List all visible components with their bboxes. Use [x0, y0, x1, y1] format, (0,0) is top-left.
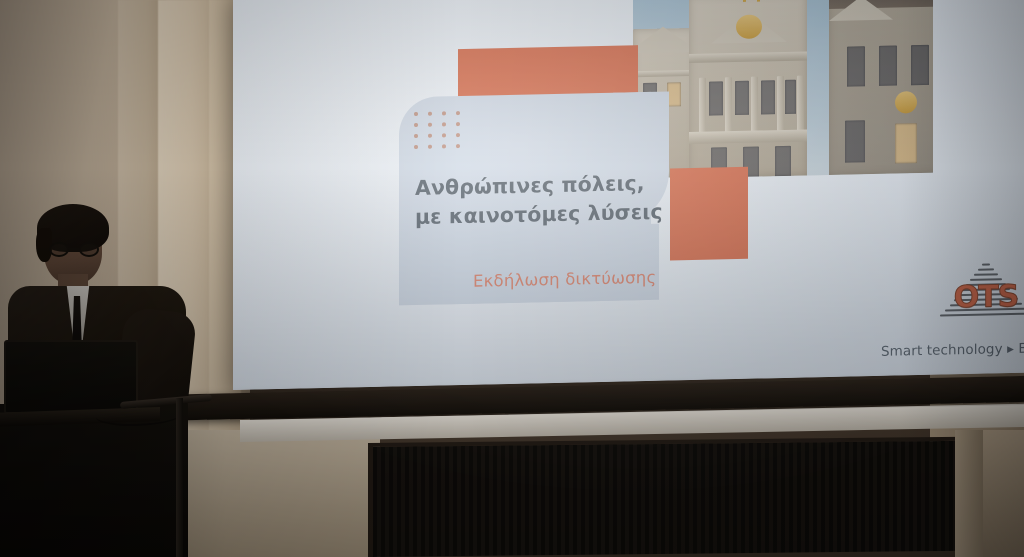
panel-frame-right [955, 430, 983, 557]
glasses-bridge [69, 248, 79, 250]
eyeglasses-icon [49, 242, 99, 257]
slide-subtitle: Εκδήλωση δικτύωσης [473, 267, 703, 291]
photo-window-lit [895, 123, 917, 163]
photo-window [761, 80, 775, 114]
photo-column [699, 78, 706, 134]
photo-window-lit [667, 82, 681, 106]
photo-window [709, 81, 723, 115]
accent-block-bottom [670, 167, 748, 261]
photo-column [725, 77, 732, 133]
slide-card-foot [399, 224, 659, 306]
slide-title-line-2: με καινοτόμες λύσεις [415, 198, 665, 233]
photo-statue-leg [757, 0, 760, 2]
logo-wordmark: OTS [938, 279, 1024, 316]
photo-column [751, 77, 758, 133]
photo-pediment-right [829, 0, 893, 21]
photo-window [775, 146, 791, 176]
slide-title: Ανθρώπινες πόλεις, με καινοτόμες λύσεις [415, 169, 665, 233]
photo-column [797, 76, 804, 132]
laptop-screen [4, 340, 138, 414]
dot-grid-decoration [414, 111, 466, 152]
presentation-photo: Ανθρώπινες πόλεις, με καινοτόμες λύσεις … [0, 0, 1024, 557]
photo-window [845, 120, 865, 162]
lens-left [49, 242, 69, 257]
lectern-rail-post [176, 398, 183, 557]
ots-logo: OTS [938, 261, 1024, 335]
photo-window [879, 46, 897, 86]
projection-screen: Ανθρώπινες πόλεις, με καινοτόμες λύσεις … [233, 0, 1024, 390]
photo-window [785, 80, 796, 114]
dark-slatted-panel [368, 437, 968, 557]
photo-column [777, 76, 784, 132]
photo-window [911, 45, 929, 85]
photo-frieze [689, 129, 807, 144]
lens-right [79, 242, 99, 257]
slide-photo-brussels [633, 0, 933, 179]
lectern [0, 404, 188, 557]
photo-window [847, 46, 865, 86]
photo-statue-leg [743, 0, 746, 2]
slide-canvas: Ανθρώπινες πόλεις, με καινοτόμες λύσεις … [233, 0, 1024, 390]
logo-tagline: Smart technology ▸ Bette [881, 339, 1024, 360]
photo-window [735, 81, 749, 115]
